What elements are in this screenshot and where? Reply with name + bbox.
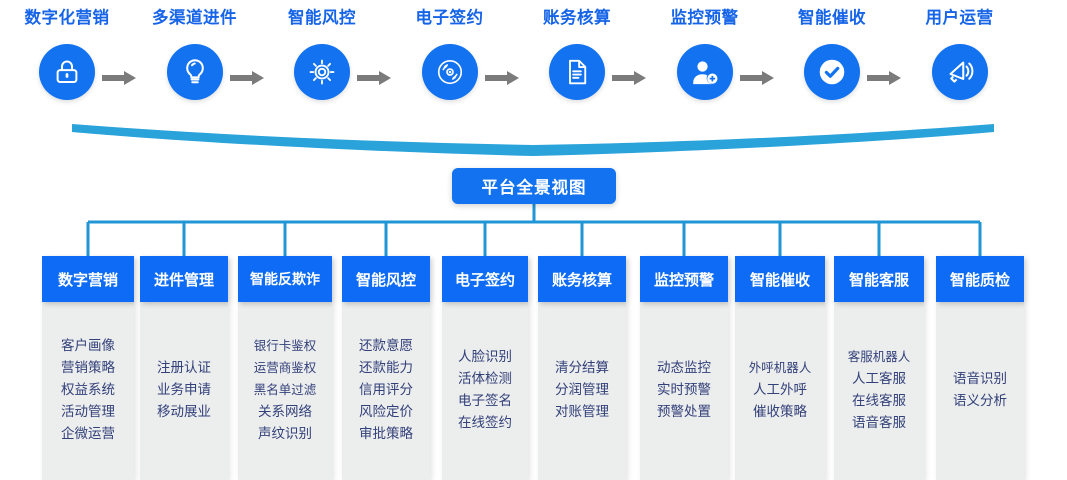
column-item[interactable]: 黑名单过滤 [254, 379, 317, 401]
process-step-8[interactable]: 用户运营 [898, 8, 1022, 100]
column-body: 客户画像营销策略权益系统活动管理企微运营 [42, 302, 134, 480]
column-header-label: 账务核算 [552, 269, 612, 290]
column-item[interactable]: 运营商鉴权 [254, 357, 317, 379]
capability-column: 监控预警动态监控实时预警预警处置 [640, 256, 728, 480]
column-item[interactable]: 分润管理 [555, 379, 609, 401]
column-body: 银行卡鉴权运营商鉴权黑名单过滤关系网络声纹识别 [238, 302, 332, 480]
check-circle-icon[interactable] [804, 44, 860, 100]
process-step-label: 多渠道进件 [133, 8, 257, 28]
column-item[interactable]: 人脸识别 [458, 346, 512, 368]
arrow-right-icon [740, 70, 774, 86]
arrow-right-icon [485, 70, 519, 86]
connector-tree [0, 200, 1067, 264]
column-header[interactable]: 智能催收 [735, 256, 825, 302]
column-item[interactable]: 风险定价 [359, 401, 413, 423]
arrow-right-icon [867, 70, 901, 86]
column-header-label: 电子签约 [455, 269, 515, 290]
user-add-icon[interactable] [677, 44, 733, 100]
process-step-label: 电子签约 [388, 8, 512, 28]
column-header-label: 智能催收 [750, 269, 810, 290]
column-item[interactable]: 对账管理 [555, 401, 609, 423]
column-body: 语音识别语义分析 [936, 302, 1024, 480]
column-item[interactable]: 移动展业 [157, 401, 211, 423]
column-header-label: 数字营销 [58, 269, 118, 290]
column-item[interactable]: 还款能力 [359, 357, 413, 379]
column-item[interactable]: 客服机器人 [848, 346, 911, 368]
column-header[interactable]: 智能客服 [834, 256, 924, 302]
column-header-label: 智能客服 [849, 269, 909, 290]
column-item[interactable]: 权益系统 [61, 379, 115, 401]
column-item[interactable]: 语义分析 [953, 390, 1007, 412]
process-step-1[interactable]: 数字化营销 [5, 8, 129, 100]
column-body: 注册认证业务申请移动展业 [140, 302, 228, 480]
column-item[interactable]: 活动管理 [61, 401, 115, 423]
column-item[interactable]: 客户画像 [61, 335, 115, 357]
capability-column: 进件管理注册认证业务申请移动展业 [140, 256, 228, 480]
process-step-label: 数字化营销 [5, 8, 129, 28]
column-header[interactable]: 智能风控 [342, 256, 430, 302]
column-item[interactable]: 还款意愿 [359, 335, 413, 357]
column-body: 客服机器人人工客服在线客服语音客服 [834, 302, 924, 480]
column-item[interactable]: 电子签名 [458, 390, 512, 412]
arrow-right-icon [102, 70, 136, 86]
column-item[interactable]: 实时预警 [657, 379, 711, 401]
column-header-label: 智能质检 [950, 269, 1010, 290]
capability-column: 智能质检语音识别语义分析 [936, 256, 1024, 480]
process-step-2[interactable]: 多渠道进件 [133, 8, 257, 100]
capability-column: 智能客服客服机器人人工客服在线客服语音客服 [834, 256, 924, 480]
swoosh-ribbon [0, 112, 1067, 158]
column-item[interactable]: 业务申请 [157, 379, 211, 401]
column-header[interactable]: 进件管理 [140, 256, 228, 302]
lock-icon[interactable] [39, 44, 95, 100]
column-body: 还款意愿还款能力信用评分风险定价审批策略 [342, 302, 430, 480]
gear-icon[interactable] [294, 44, 350, 100]
column-body: 人脸识别活体检测电子签名在线签约 [442, 302, 528, 480]
process-step-7[interactable]: 智能催收 [770, 8, 894, 100]
center-node[interactable]: 平台全景视图 [452, 168, 616, 204]
column-item[interactable]: 外呼机器人 [749, 357, 812, 379]
column-header-label: 监控预警 [654, 269, 714, 290]
column-header[interactable]: 智能反欺诈 [238, 256, 332, 302]
column-item[interactable]: 人工外呼 [753, 379, 807, 401]
process-step-label: 智能催收 [770, 8, 894, 28]
column-header[interactable]: 账务核算 [538, 256, 626, 302]
column-item[interactable]: 在线客服 [852, 390, 906, 412]
column-item[interactable]: 催收策略 [753, 401, 807, 423]
column-item[interactable]: 营销策略 [61, 357, 115, 379]
capability-columns: 数字营销客户画像营销策略权益系统活动管理企微运营进件管理注册认证业务申请移动展业… [0, 256, 1067, 466]
column-item[interactable]: 动态监控 [657, 357, 711, 379]
column-item[interactable]: 预警处置 [657, 401, 711, 423]
process-step-6[interactable]: 监控预警 [643, 8, 767, 100]
column-header-label: 进件管理 [154, 269, 214, 290]
process-step-3[interactable]: 智能风控 [260, 8, 384, 100]
column-item[interactable]: 语音识别 [953, 368, 1007, 390]
capability-column: 电子签约人脸识别活体检测电子签名在线签约 [442, 256, 528, 480]
column-header[interactable]: 智能质检 [936, 256, 1024, 302]
center-node-label: 平台全景视图 [482, 174, 587, 198]
column-item[interactable]: 在线签约 [458, 412, 512, 434]
capability-column: 数字营销客户画像营销策略权益系统活动管理企微运营 [42, 256, 134, 480]
column-item[interactable]: 人工客服 [852, 368, 906, 390]
column-item[interactable]: 审批策略 [359, 423, 413, 445]
lightbulb-icon[interactable] [167, 44, 223, 100]
process-flow-row: 数字化营销多渠道进件智能风控电子签约账务核算监控预警智能催收用户运营 [0, 0, 1067, 125]
capability-column: 账务核算清分结算分润管理对账管理 [538, 256, 626, 480]
column-header[interactable]: 数字营销 [42, 256, 134, 302]
megaphone-icon[interactable] [932, 44, 988, 100]
column-item[interactable]: 清分结算 [555, 357, 609, 379]
process-step-label: 账务核算 [515, 8, 639, 28]
capability-column: 智能风控还款意愿还款能力信用评分风险定价审批策略 [342, 256, 430, 480]
process-step-5[interactable]: 账务核算 [515, 8, 639, 100]
column-header-label: 智能反欺诈 [250, 269, 320, 289]
disc-icon[interactable] [422, 44, 478, 100]
column-item[interactable]: 信用评分 [359, 379, 413, 401]
column-header[interactable]: 监控预警 [640, 256, 728, 302]
diagram-canvas: 数字化营销多渠道进件智能风控电子签约账务核算监控预警智能催收用户运营 平台全景视… [0, 0, 1067, 466]
arrow-right-icon [230, 70, 264, 86]
process-step-label: 监控预警 [643, 8, 767, 28]
column-item[interactable]: 银行卡鉴权 [254, 335, 317, 357]
document-icon[interactable] [549, 44, 605, 100]
column-item[interactable]: 注册认证 [157, 357, 211, 379]
column-body: 清分结算分润管理对账管理 [538, 302, 626, 480]
column-item[interactable]: 语音客服 [852, 412, 906, 434]
arrow-right-icon [612, 70, 646, 86]
column-item[interactable]: 企微运营 [61, 423, 115, 445]
column-header-label: 智能风控 [356, 269, 416, 290]
column-item[interactable]: 关系网络 [258, 401, 312, 423]
process-step-label: 用户运营 [898, 8, 1022, 28]
process-step-4[interactable]: 电子签约 [388, 8, 512, 100]
capability-column: 智能催收外呼机器人人工外呼催收策略 [735, 256, 825, 480]
arrow-right-icon [357, 70, 391, 86]
column-body: 动态监控实时预警预警处置 [640, 302, 728, 480]
column-body: 外呼机器人人工外呼催收策略 [735, 302, 825, 480]
column-item[interactable]: 声纹识别 [258, 423, 312, 445]
column-item[interactable]: 活体检测 [458, 368, 512, 390]
capability-column: 智能反欺诈银行卡鉴权运营商鉴权黑名单过滤关系网络声纹识别 [238, 256, 332, 480]
column-header[interactable]: 电子签约 [442, 256, 528, 302]
process-step-label: 智能风控 [260, 8, 384, 28]
